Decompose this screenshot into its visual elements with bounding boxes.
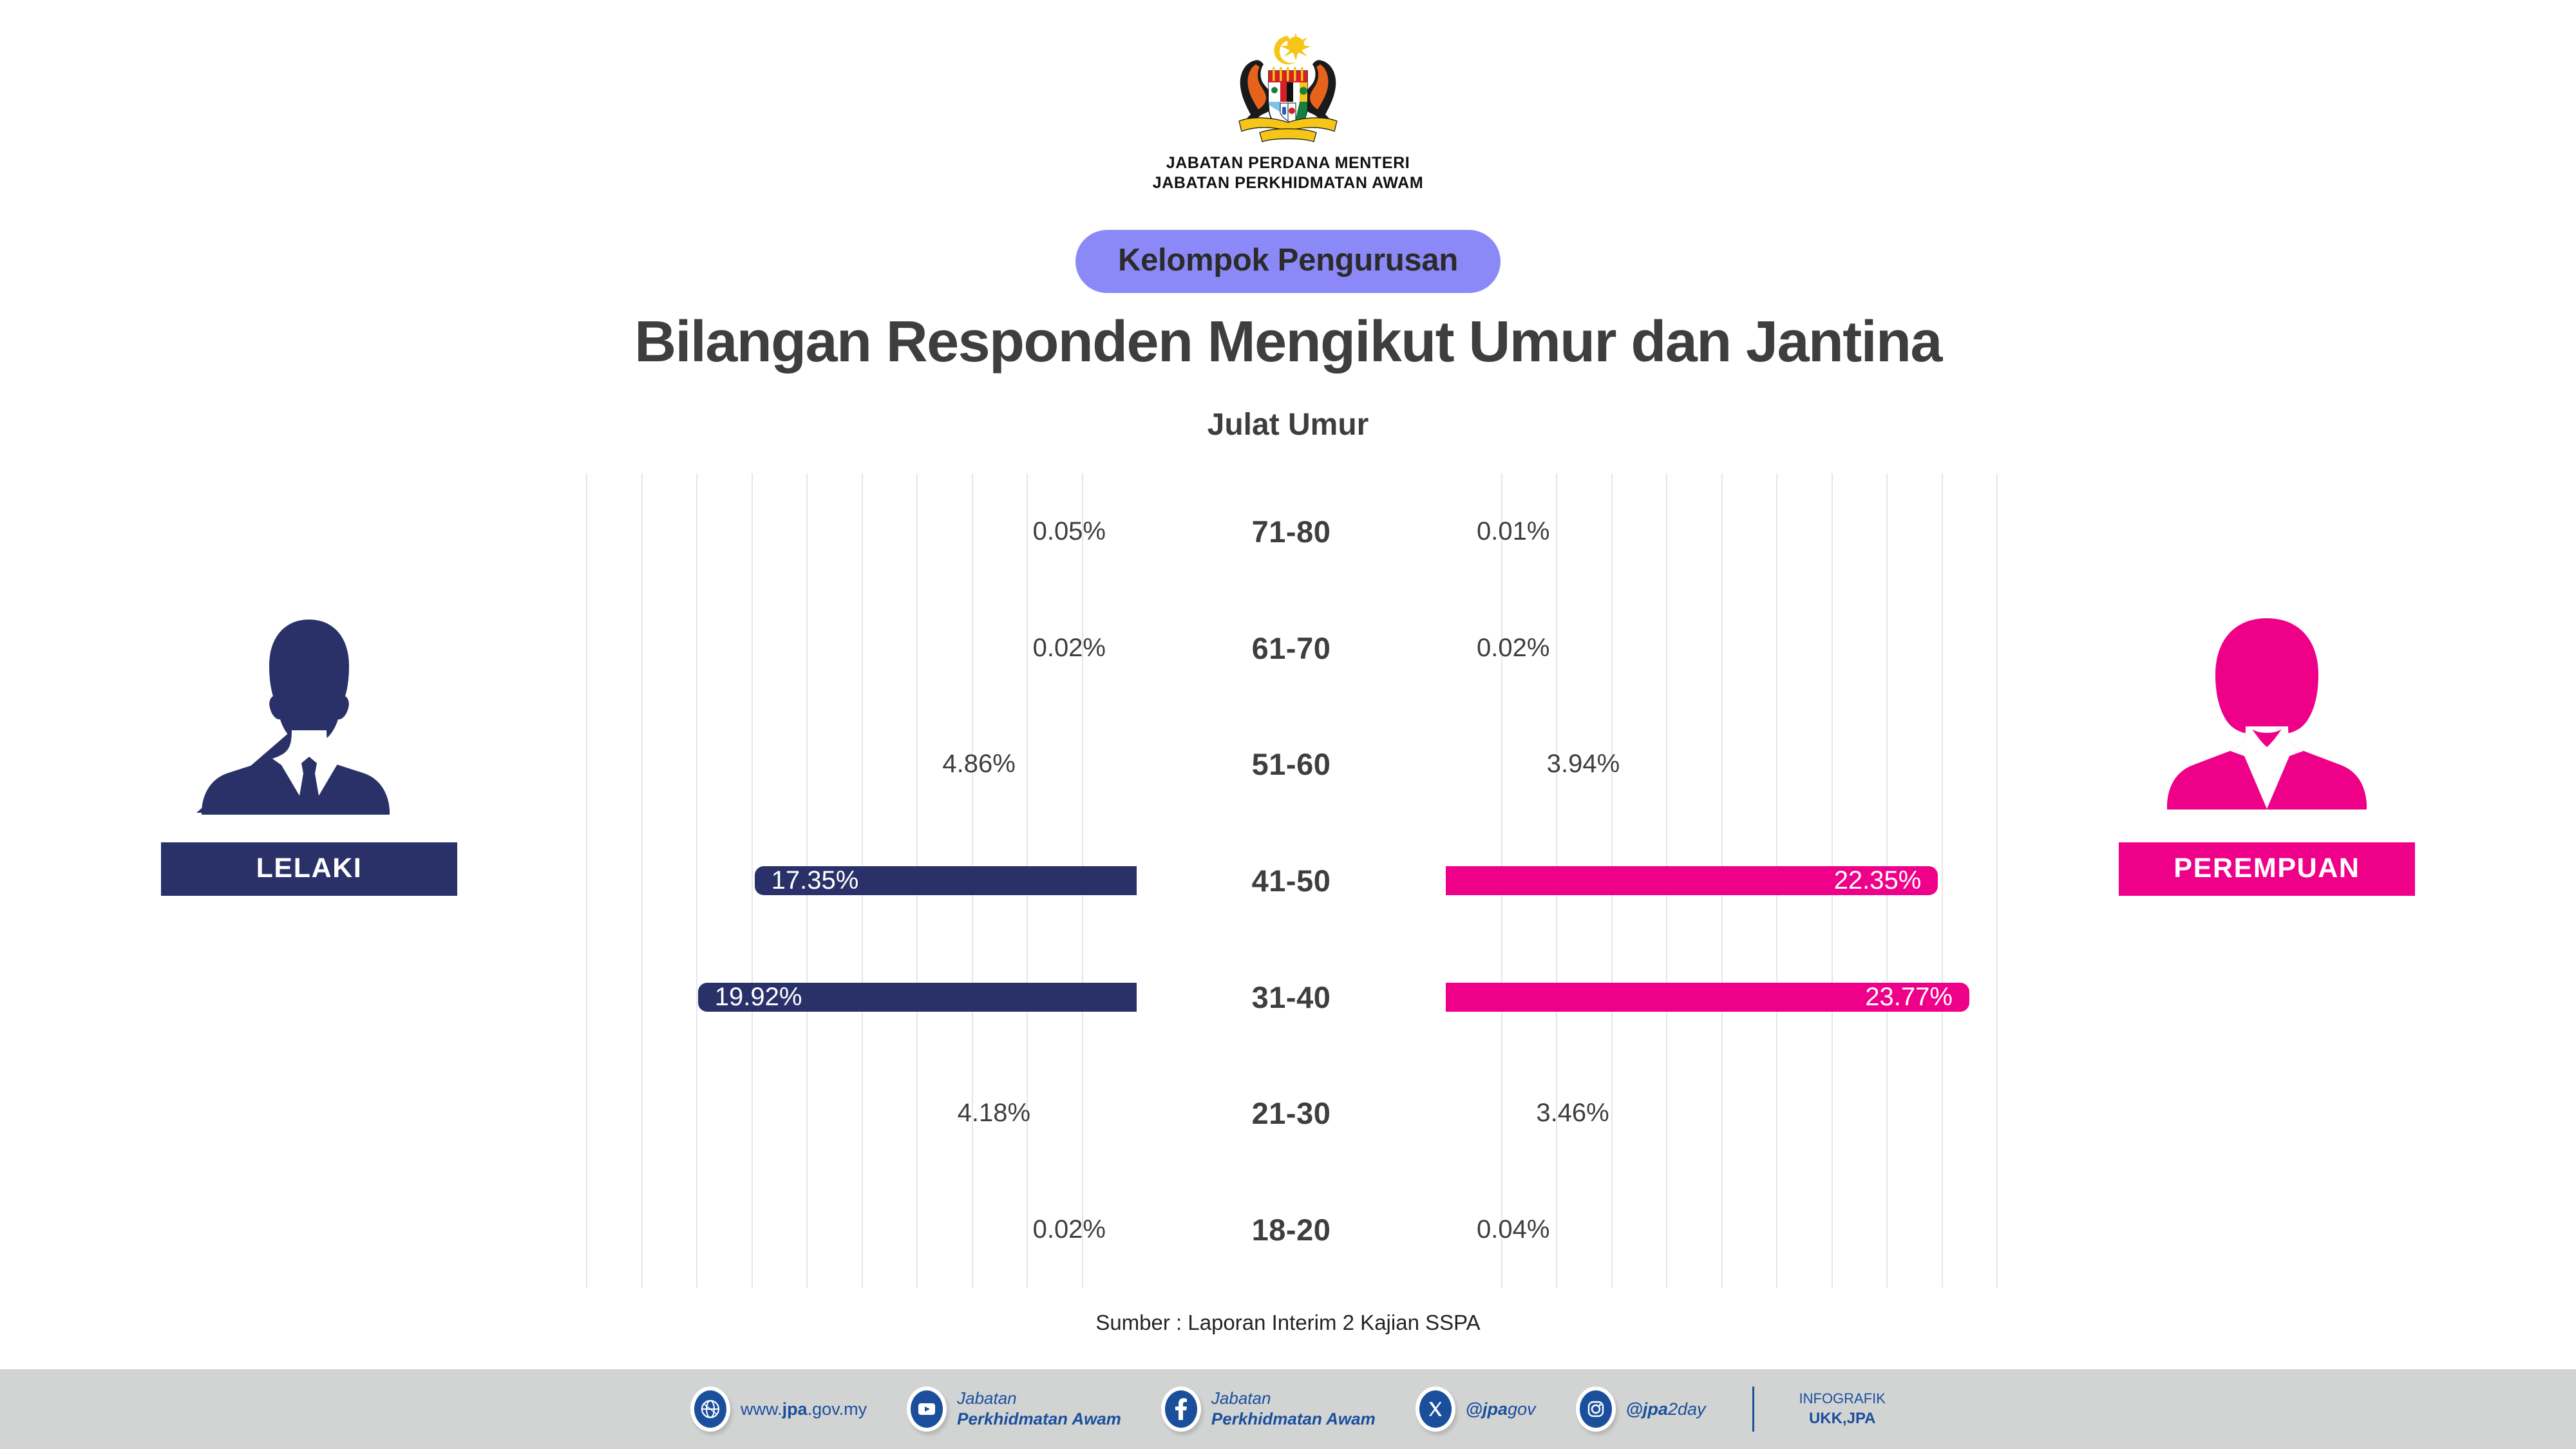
- youtube-icon: [907, 1387, 947, 1432]
- footer-bar: www.jpa.gov.my Jabatan Perkhidmatan Awam: [0, 1369, 2576, 1449]
- footer-website-url: www.jpa.gov.my: [741, 1399, 867, 1419]
- age-range-label: 31-40: [1137, 980, 1446, 1015]
- chart-row-male: 4.18%: [586, 1099, 1137, 1128]
- instagram-icon: [1576, 1387, 1616, 1432]
- male-avatar-icon: [196, 612, 422, 818]
- chart-row-female: 0.02%: [1446, 634, 1996, 663]
- age-gender-pyramid-chart: 0.05%71-800.01%0.02%61-700.02%4.86%51-60…: [586, 473, 1996, 1288]
- chart-row: 0.02%18-200.04%: [586, 1171, 1996, 1288]
- bar-value-male: 0.02%: [1033, 634, 1106, 663]
- age-range-label: 61-70: [1137, 630, 1446, 666]
- footer-item-youtube[interactable]: Jabatan Perkhidmatan Awam: [907, 1387, 1121, 1432]
- bar-value-male: 19.92%: [715, 983, 802, 1012]
- chart-row-female: 3.94%: [1446, 750, 1996, 779]
- legend-female-label: PEREMPUAN: [2119, 842, 2415, 896]
- chart-row-male: 0.05%: [586, 517, 1137, 546]
- bar-value-male: 0.05%: [1033, 517, 1106, 546]
- x-twitter-icon: [1416, 1387, 1455, 1432]
- chart-row-male: 0.02%: [586, 634, 1137, 663]
- footer-item-x-twitter[interactable]: @jpagov: [1416, 1387, 1536, 1432]
- chart-row: 4.18%21-303.46%: [586, 1056, 1996, 1172]
- footer-instagram-handle: @jpa2day: [1626, 1399, 1706, 1419]
- facebook-icon: [1161, 1387, 1201, 1432]
- footer-credit-line2: UKK,JPA: [1799, 1408, 1886, 1428]
- footer-item-instagram[interactable]: @jpa2day: [1576, 1387, 1706, 1432]
- bar-value-male: 17.35%: [772, 866, 859, 895]
- bar-value-male: 0.02%: [1033, 1215, 1106, 1244]
- bar-value-male: 4.18%: [958, 1099, 1030, 1128]
- bar-male[interactable]: 17.35%: [755, 866, 1137, 895]
- bar-value-female: 23.77%: [1865, 983, 1953, 1012]
- bar-male[interactable]: 19.92%: [698, 983, 1137, 1012]
- chart-row: 4.86%51-603.94%: [586, 706, 1996, 822]
- chart-row-female: 0.04%: [1446, 1215, 1996, 1244]
- header-crest-block: JABATAN PERDANA MENTERI JABATAN PERKHIDM…: [0, 31, 2576, 193]
- org-line-2: JABATAN PERKHIDMATAN AWAM: [1153, 173, 1424, 193]
- chart-rows: 0.05%71-800.01%0.02%61-700.02%4.86%51-60…: [586, 473, 1996, 1288]
- footer-x-handle: @jpagov: [1466, 1399, 1536, 1419]
- age-range-label: 21-30: [1137, 1095, 1446, 1131]
- chart-row-male: 0.02%: [586, 1215, 1137, 1244]
- age-range-label: 18-20: [1137, 1212, 1446, 1247]
- chart-row-female: 0.01%: [1446, 517, 1996, 546]
- age-range-label: 71-80: [1137, 514, 1446, 549]
- badge-container: Kelompok Pengurusan: [0, 230, 2576, 293]
- legend-male: LELAKI: [161, 612, 457, 896]
- female-avatar-icon: [2154, 612, 2380, 818]
- chart-row: 19.92%31-4023.77%: [586, 939, 1996, 1056]
- gridline: [1996, 473, 1998, 1288]
- malaysia-coat-of-arms-icon: [1204, 31, 1372, 153]
- bar-value-female: 0.01%: [1477, 517, 1549, 546]
- chart-row-female: 3.46%: [1446, 1099, 1996, 1128]
- chart-row-male: 4.86%: [586, 750, 1137, 779]
- chart-row-female: 23.77%: [1446, 983, 1996, 1012]
- age-range-label: 51-60: [1137, 746, 1446, 782]
- bar-value-female: 3.94%: [1547, 750, 1620, 779]
- footer-youtube-text: Jabatan Perkhidmatan Awam: [957, 1388, 1121, 1429]
- bar-female[interactable]: 23.77%: [1446, 983, 1969, 1012]
- bar-value-male: 4.86%: [942, 750, 1015, 779]
- bar-value-female: 0.02%: [1477, 634, 1549, 663]
- source-note: Sumber : Laporan Interim 2 Kajian SSPA: [0, 1311, 2576, 1335]
- org-line-1: JABATAN PERDANA MENTERI: [1166, 153, 1410, 173]
- legend-female: PEREMPUAN: [2119, 612, 2415, 896]
- footer-facebook-text: Jabatan Perkhidmatan Awam: [1211, 1388, 1376, 1429]
- bar-female[interactable]: 22.35%: [1446, 866, 1938, 895]
- chart-row-male: 17.35%: [586, 866, 1137, 895]
- chart-row: 0.05%71-800.01%: [586, 473, 1996, 590]
- page-title: Bilangan Responden Mengikut Umur dan Jan…: [0, 309, 2576, 375]
- footer-item-website[interactable]: www.jpa.gov.my: [690, 1387, 867, 1432]
- chart-row: 17.35%41-5022.35%: [586, 822, 1996, 939]
- bar-value-female: 0.04%: [1477, 1215, 1549, 1244]
- globe-icon: [690, 1387, 730, 1432]
- chart-row-male: 19.92%: [586, 983, 1137, 1012]
- bar-value-female: 22.35%: [1834, 866, 1922, 895]
- group-badge: Kelompok Pengurusan: [1075, 230, 1501, 293]
- legend-male-label: LELAKI: [161, 842, 457, 896]
- bar-value-female: 3.46%: [1536, 1099, 1609, 1128]
- footer-item-facebook[interactable]: Jabatan Perkhidmatan Awam: [1161, 1387, 1376, 1432]
- footer-credit: INFOGRAFIK UKK,JPA: [1799, 1390, 1886, 1428]
- footer-credit-line1: INFOGRAFIK: [1799, 1390, 1886, 1408]
- age-range-label: 41-50: [1137, 863, 1446, 898]
- chart-row: 0.02%61-700.02%: [586, 590, 1996, 706]
- chart-axis-title: Julat Umur: [0, 407, 2576, 442]
- footer-divider: [1752, 1387, 1754, 1432]
- chart-row-female: 22.35%: [1446, 866, 1996, 895]
